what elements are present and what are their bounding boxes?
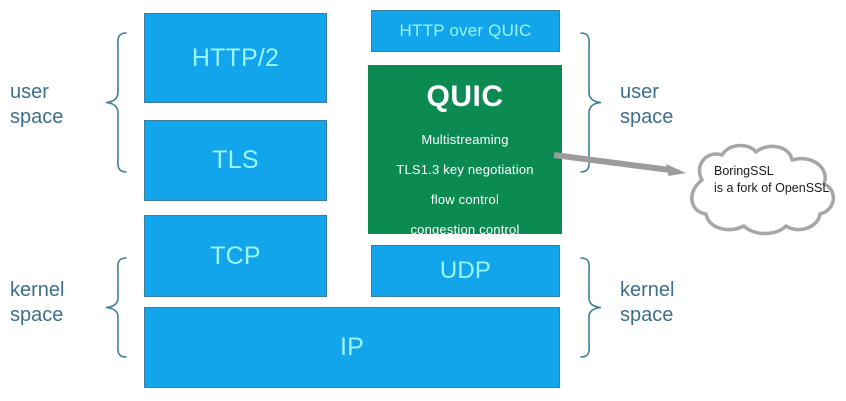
quic-title: QUIC bbox=[427, 80, 504, 114]
layer-box-http2[interactable]: HTTP/2 bbox=[144, 13, 327, 103]
layer-box-ip[interactable]: IP bbox=[144, 307, 560, 388]
quic-to-boringssl-arrow bbox=[552, 146, 692, 191]
left-user-space-brace bbox=[100, 30, 130, 175]
quic-feature-multistreaming: Multistreaming bbox=[421, 133, 508, 146]
quic-feature-tls13-key-negotiation: TLS1.3 key negotiation bbox=[396, 163, 533, 176]
layer-box-http-over-quic[interactable]: HTTP over QUIC bbox=[371, 10, 560, 52]
left-kernel-space-brace bbox=[100, 255, 130, 360]
quic-feature-congestion-control: congestion control bbox=[410, 223, 519, 236]
left-kernel-space-label: kernel space bbox=[10, 278, 64, 328]
protocol-stack-diagram: user space kernel space HTTP/2 TLS TCP H… bbox=[0, 0, 846, 401]
layer-box-udp[interactable]: UDP bbox=[371, 245, 560, 297]
right-kernel-space-label: kernel space bbox=[620, 278, 674, 328]
left-user-space-label: user space bbox=[10, 80, 63, 130]
boringssl-annotation-text: BoringSSL is a fork of OpenSSL bbox=[714, 163, 829, 197]
quic-feature-flow-control: flow control bbox=[431, 193, 499, 206]
layer-box-tcp[interactable]: TCP bbox=[144, 215, 327, 297]
layer-box-quic[interactable]: QUIC Multistreaming TLS1.3 key negotiati… bbox=[368, 65, 562, 234]
layer-box-tls[interactable]: TLS bbox=[144, 120, 327, 201]
right-kernel-space-brace bbox=[577, 255, 607, 360]
right-user-space-label: user space bbox=[620, 80, 673, 130]
